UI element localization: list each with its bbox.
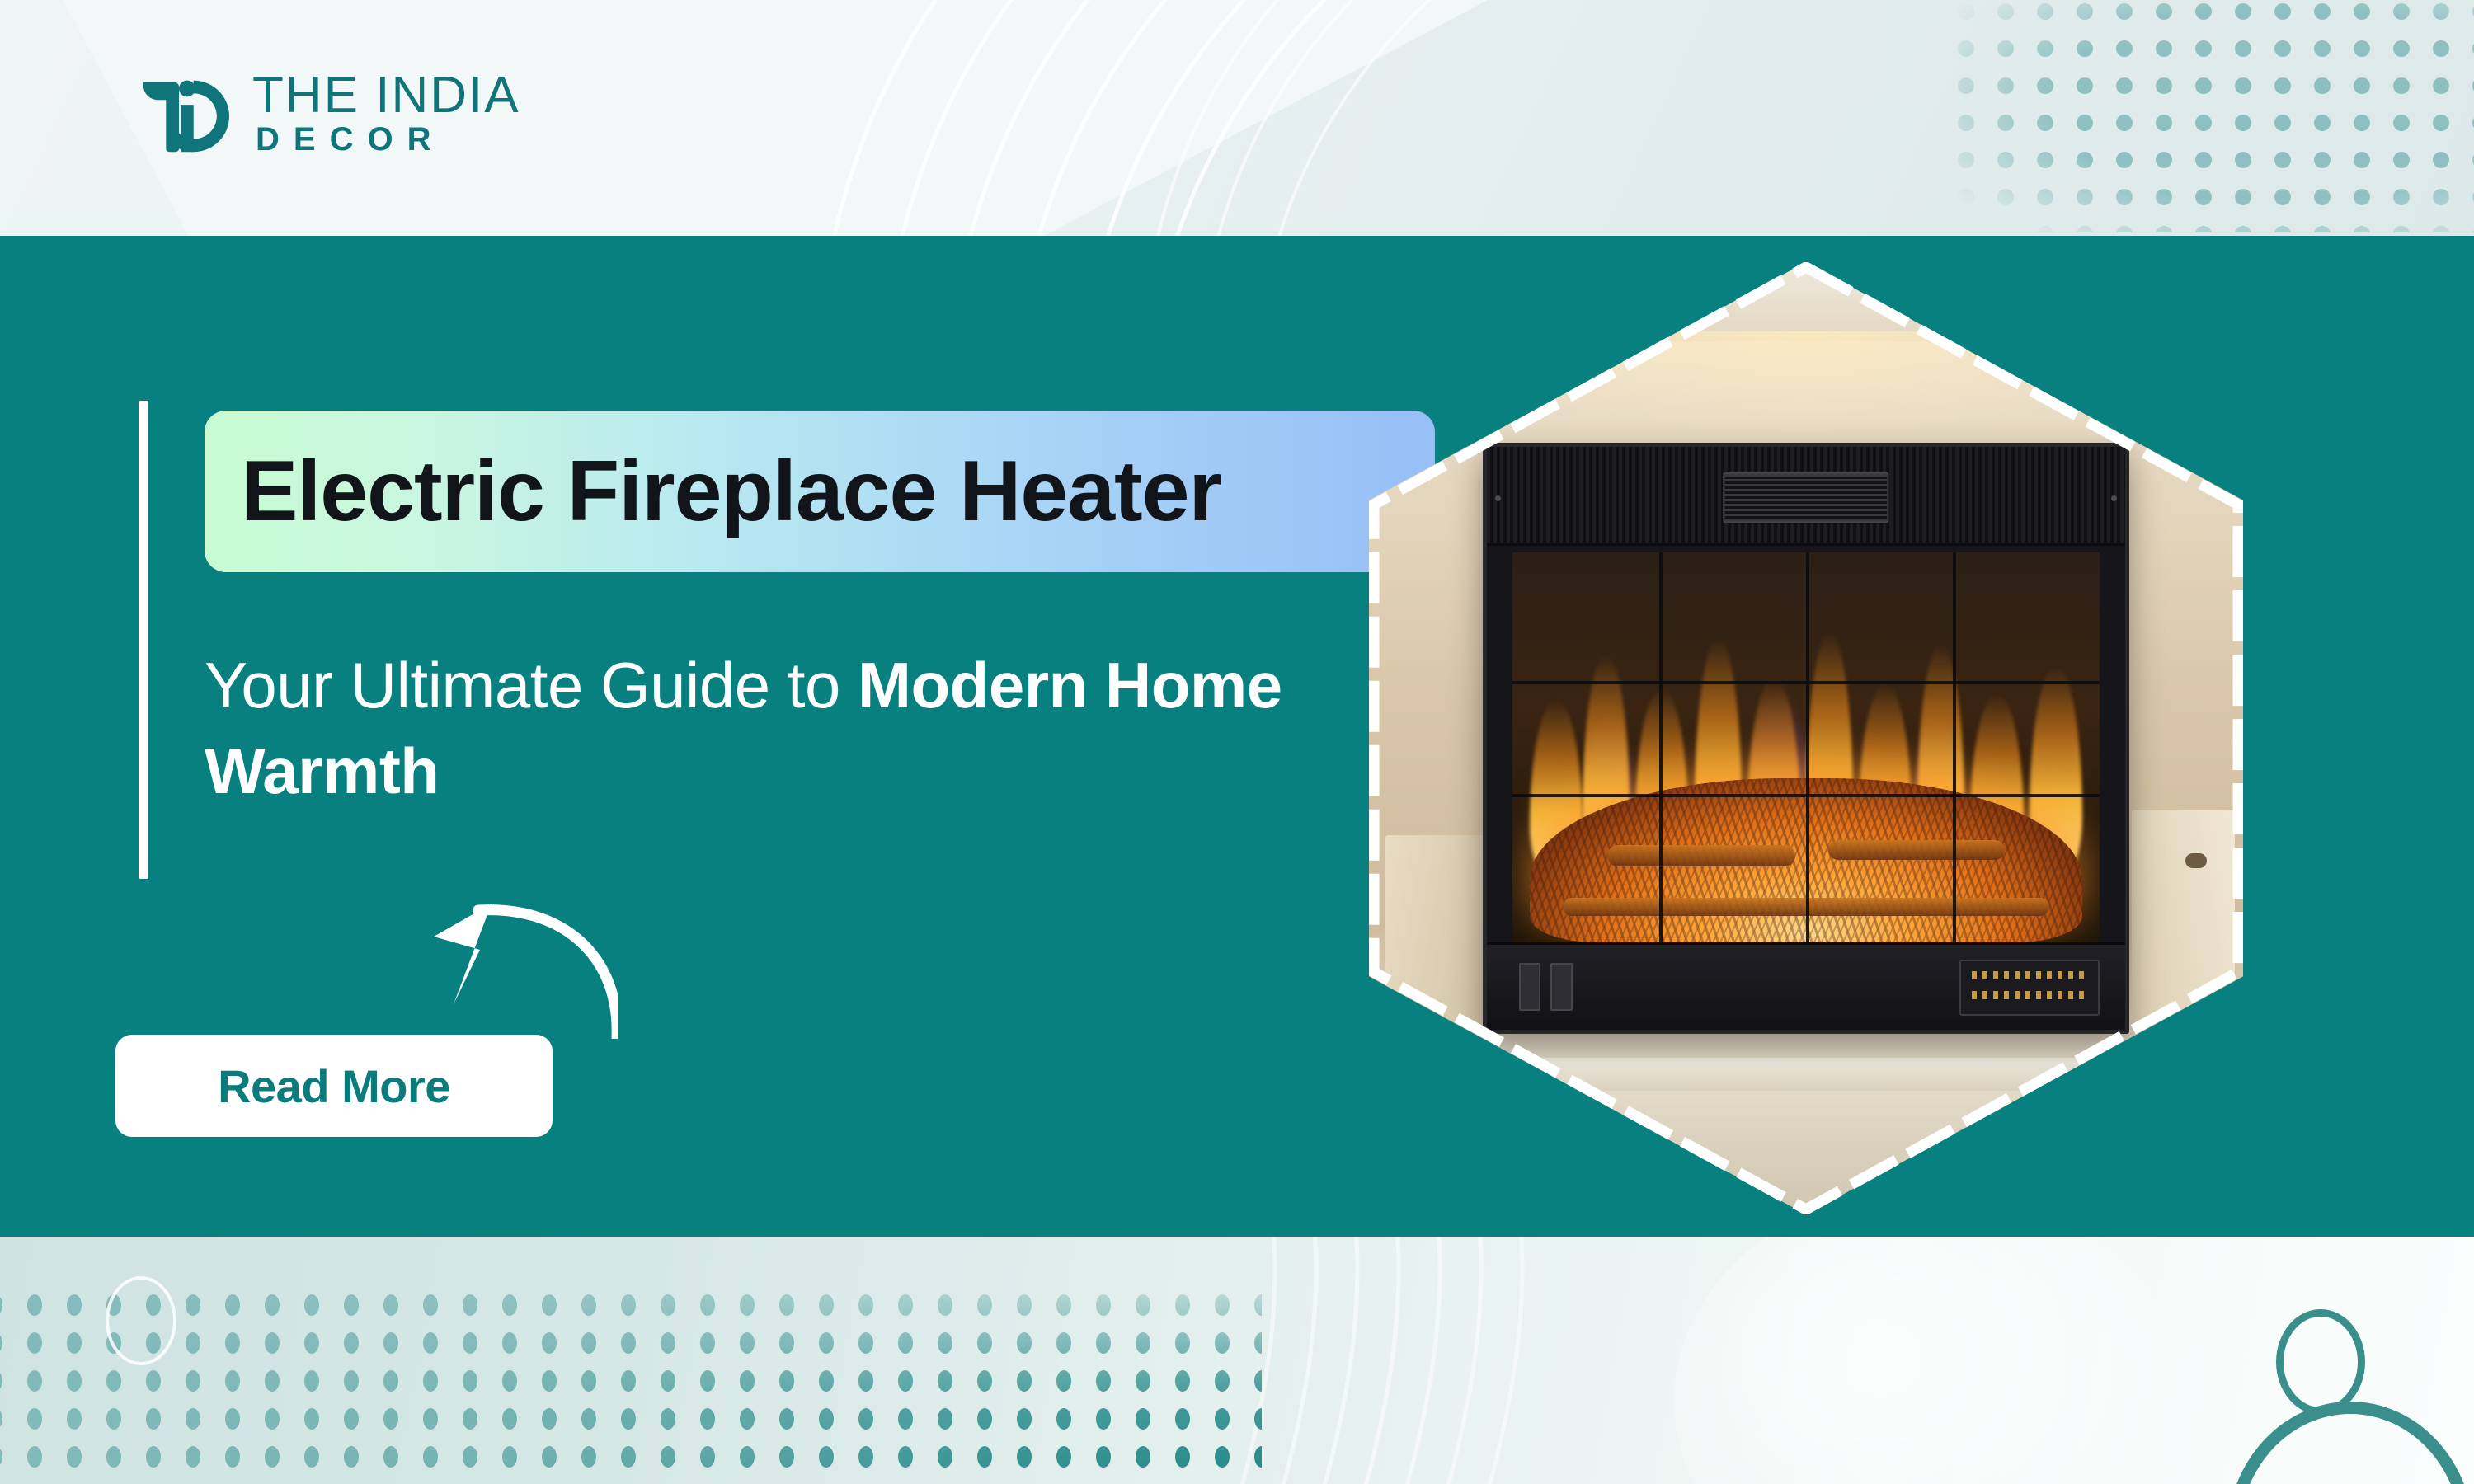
decorative-ring-small-teal	[2276, 1309, 2365, 1415]
tid-monogram-icon	[132, 64, 229, 162]
hero-accent-bar	[139, 401, 148, 879]
hero-subtitle: Your Ultimate Guide to Modern Home Warmt…	[205, 643, 1442, 814]
read-more-button[interactable]: Read More	[115, 1035, 553, 1137]
brand-logo[interactable]: THE INDIA DECOR	[132, 64, 520, 162]
hero-title-pill: Electric Fireplace Heater	[205, 411, 1435, 572]
header-arc-lines-secondary	[1105, 0, 1682, 236]
page-title: Electric Fireplace Heater	[205, 448, 1221, 534]
brand-name-line2: DECOR	[256, 123, 520, 156]
hero-image-hexagon	[1369, 262, 2243, 1214]
read-more-label: Read More	[218, 1059, 450, 1113]
footer-bar: www.theindiadecor.com	[0, 1237, 2474, 1484]
header-bar: THE INDIA DECOR	[0, 0, 2474, 236]
footer-light-blob	[1674, 1237, 2185, 1484]
dot-grid-top-right	[1946, 0, 2474, 232]
dot-grid-bottom-left	[0, 1286, 1262, 1484]
curved-arrow-down-left-icon	[355, 899, 618, 1039]
brand-wordmark: THE INDIA DECOR	[252, 70, 520, 156]
hexagon-dashed-border	[1369, 262, 2243, 1214]
promo-banner: THE INDIA DECOR Electric Fireplace Heate…	[0, 0, 2474, 1484]
brand-name-line1: THE INDIA	[252, 70, 520, 121]
subtitle-regular-part: Your Ultimate Guide to	[205, 649, 858, 721]
decorative-ring-small-white	[106, 1276, 176, 1365]
